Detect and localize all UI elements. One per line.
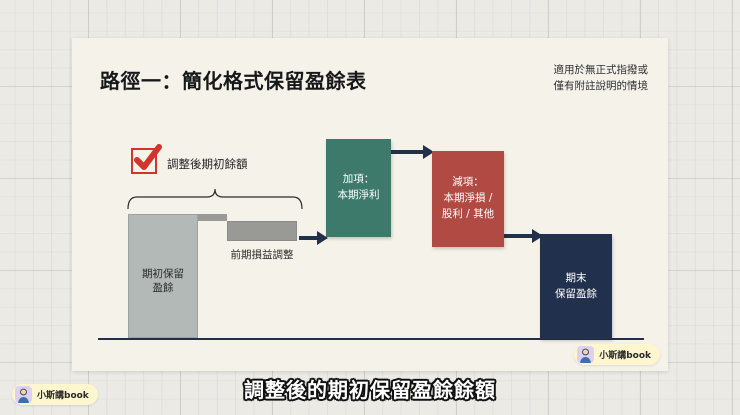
check-mark-icon [130,142,164,176]
arrow-to-add-box [299,230,329,250]
arrow-to-subtract-box [389,144,435,164]
slide-watermark: 小斯講book [574,344,660,365]
applicability-note-line2: 僅有附註說明的情境 [554,78,649,94]
applicability-note: 適用於無正式指撥或 僅有附註說明的情境 [554,62,649,95]
bar-opening-retained-earnings: 期初保留 盈餘 [128,214,198,338]
subtitle-caption: 調整後的期初保留盈餘餘額 [0,374,740,403]
arrow-to-ending-box [502,228,544,248]
applicability-note-line1: 適用於無正式指撥或 [554,62,649,78]
bar-opening-label: 期初保留 盈餘 [129,267,197,295]
bar-prior-period-adjustment-label: 前期損益調整 [212,247,312,262]
avatar-icon [577,346,594,363]
ending-box-label: 期末 保留盈餘 [555,271,597,303]
add-box: 加項： 本期淨利 [326,139,391,237]
subtract-box-label: 減項： 本期淨損 / 股利 / 其他 [442,175,494,222]
checkbox-label: 調整後期初餘額 [167,156,248,172]
bar-prior-period-adjustment [227,221,297,241]
ending-box: 期末 保留盈餘 [540,234,612,339]
add-box-label: 加項： 本期淨利 [338,172,380,204]
bar-connector-line [198,214,227,221]
slide-watermark-label: 小斯講book [599,348,651,361]
slide-card: 路徑一：簡化格式保留盈餘表 適用於無正式指撥或 僅有附註說明的情境 調整後期初餘… [72,38,668,371]
checkbox-icon[interactable] [131,148,157,174]
brace-icon [127,188,303,214]
subtract-box: 減項： 本期淨損 / 股利 / 其他 [432,151,504,247]
page-title: 路徑一：簡化格式保留盈餘表 [100,65,367,94]
